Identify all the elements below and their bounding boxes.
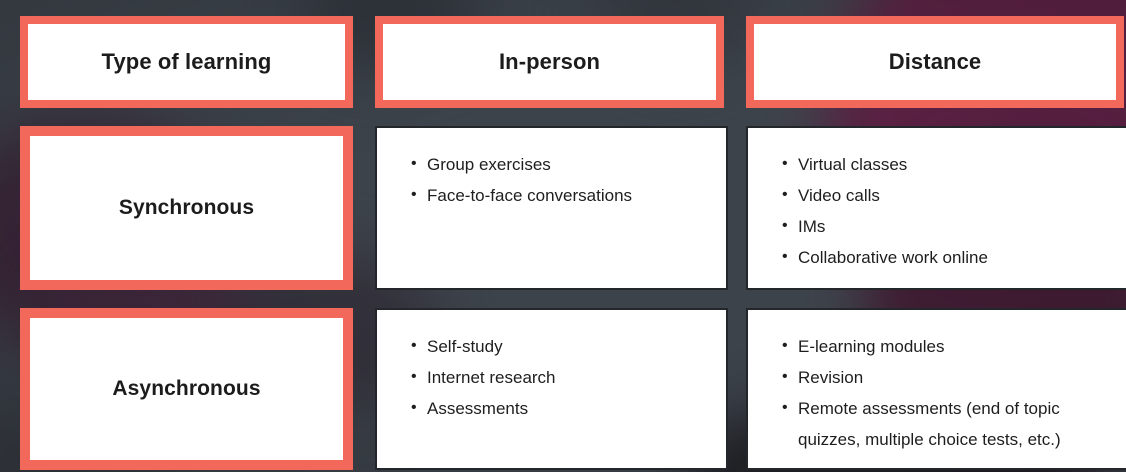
column-header-type-of-learning: Type of learning [20,16,353,108]
learning-type-matrix: Type of learning In-person Distance Sync… [0,0,1126,472]
column-header-distance: Distance [746,16,1124,108]
row-header-asynchronous: Asynchronous [20,308,353,470]
list-item: Self-study [411,332,708,363]
bullet-list: Virtual classes Video calls IMs Collabor… [782,150,1108,274]
list-item: Remote assessments (end of topic quizzes… [782,394,1108,456]
column-header-in-person-inner: In-person [383,24,716,100]
column-header-label: Type of learning [102,49,272,75]
cell-asynchronous-in-person: Self-study Internet research Assessments [375,308,728,470]
column-header-label: Distance [889,49,982,75]
row-header-synchronous-inner: Synchronous [30,136,343,280]
cell-synchronous-distance: Virtual classes Video calls IMs Collabor… [746,126,1126,290]
list-item: Group exercises [411,150,708,181]
list-item: IMs [782,212,1108,243]
row-header-asynchronous-inner: Asynchronous [30,318,343,460]
list-item: Video calls [782,181,1108,212]
row-header-label: Synchronous [119,196,254,220]
cell-synchronous-in-person: Group exercises Face-to-face conversatio… [375,126,728,290]
bullet-list: E-learning modules Revision Remote asses… [782,332,1108,456]
bullet-list: Group exercises Face-to-face conversatio… [411,150,708,212]
column-header-distance-inner: Distance [754,24,1116,100]
list-item: Internet research [411,363,708,394]
list-item: Revision [782,363,1108,394]
column-header-label: In-person [499,49,600,75]
list-item: Collaborative work online [782,243,1108,274]
column-header-in-person: In-person [375,16,724,108]
column-header-type-of-learning-inner: Type of learning [28,24,345,100]
list-item: Virtual classes [782,150,1108,181]
list-item: Assessments [411,394,708,425]
list-item: E-learning modules [782,332,1108,363]
cell-asynchronous-distance: E-learning modules Revision Remote asses… [746,308,1126,470]
list-item: Face-to-face conversations [411,181,708,212]
row-header-synchronous: Synchronous [20,126,353,290]
row-header-label: Asynchronous [112,377,260,401]
bullet-list: Self-study Internet research Assessments [411,332,708,425]
